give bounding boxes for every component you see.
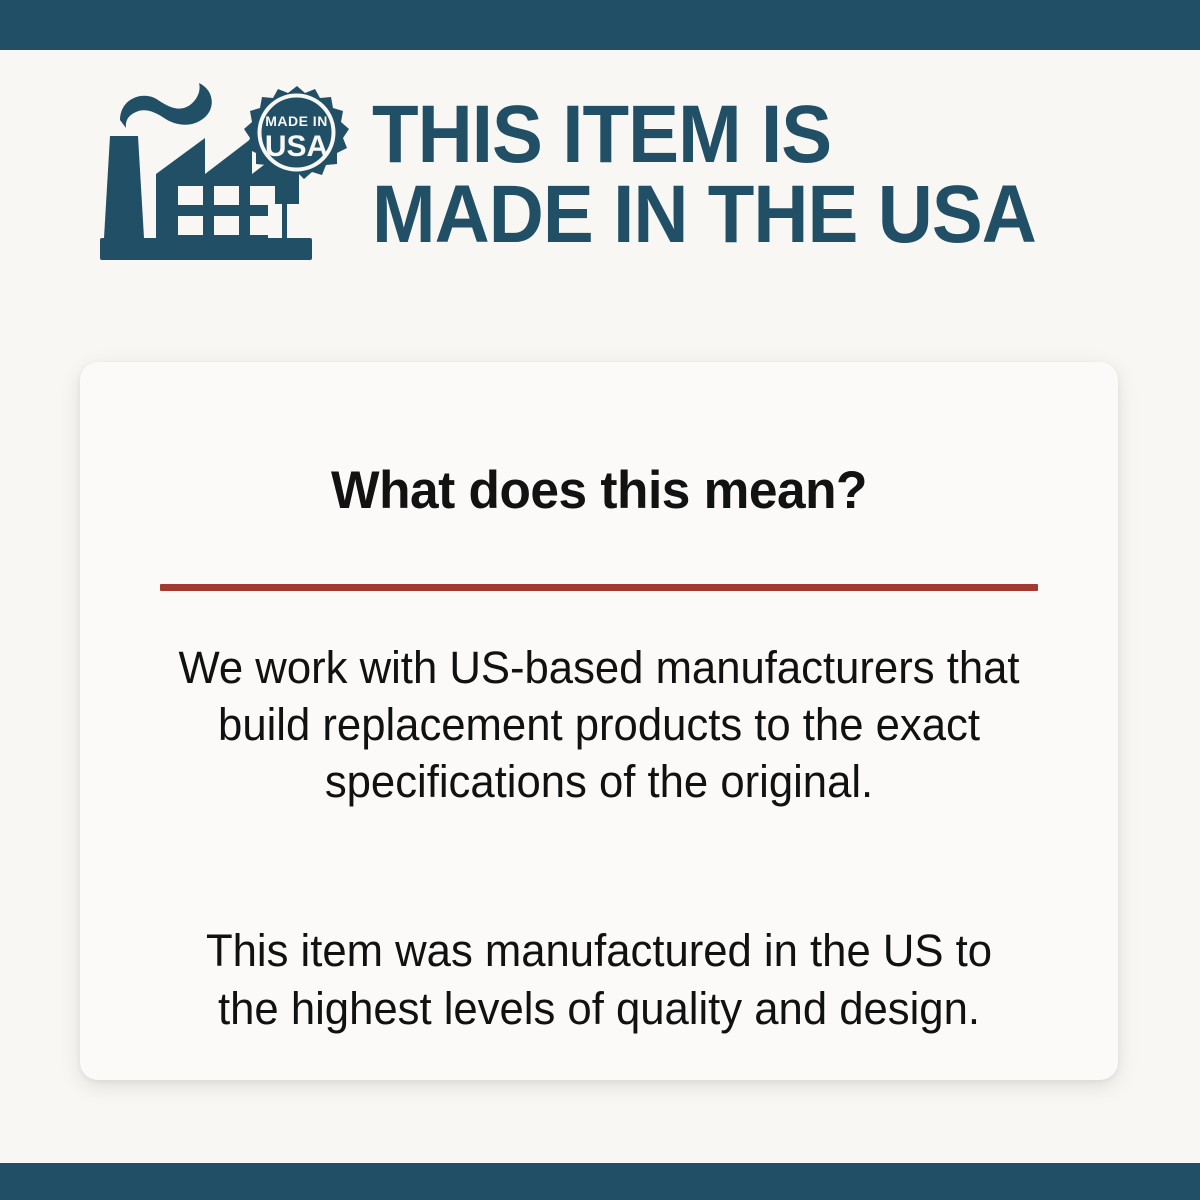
page-canvas: MADE IN USA THIS ITEM IS MADE IN THE USA… xyxy=(0,50,1200,1163)
factory-logo: MADE IN USA xyxy=(100,78,350,273)
top-accent-band xyxy=(0,0,1200,50)
card-paragraph-1: We work with US-based manufacturers that… xyxy=(172,591,1026,810)
bottom-accent-band xyxy=(0,1163,1200,1200)
card-divider xyxy=(160,584,1038,591)
card-title: What does this mean? xyxy=(96,362,1103,521)
card-paragraph-2: This item was manufactured in the US to … xyxy=(172,810,1026,1036)
headline-line-1: THIS ITEM IS xyxy=(372,95,1036,175)
headline-line-2: MADE IN THE USA xyxy=(372,175,1036,255)
badge-line1-text: MADE IN xyxy=(265,113,328,129)
factory-base-icon xyxy=(100,238,312,260)
badge-line2-text: USA xyxy=(265,130,328,163)
chimney-icon xyxy=(104,136,144,238)
info-card: What does this mean? We work with US-bas… xyxy=(80,362,1118,1080)
page-headline: THIS ITEM IS MADE IN THE USA xyxy=(372,95,1036,256)
made-in-usa-badge-icon: MADE IN USA xyxy=(244,86,349,179)
smoke-icon xyxy=(120,83,212,128)
header: MADE IN USA THIS ITEM IS MADE IN THE USA xyxy=(0,50,1200,300)
